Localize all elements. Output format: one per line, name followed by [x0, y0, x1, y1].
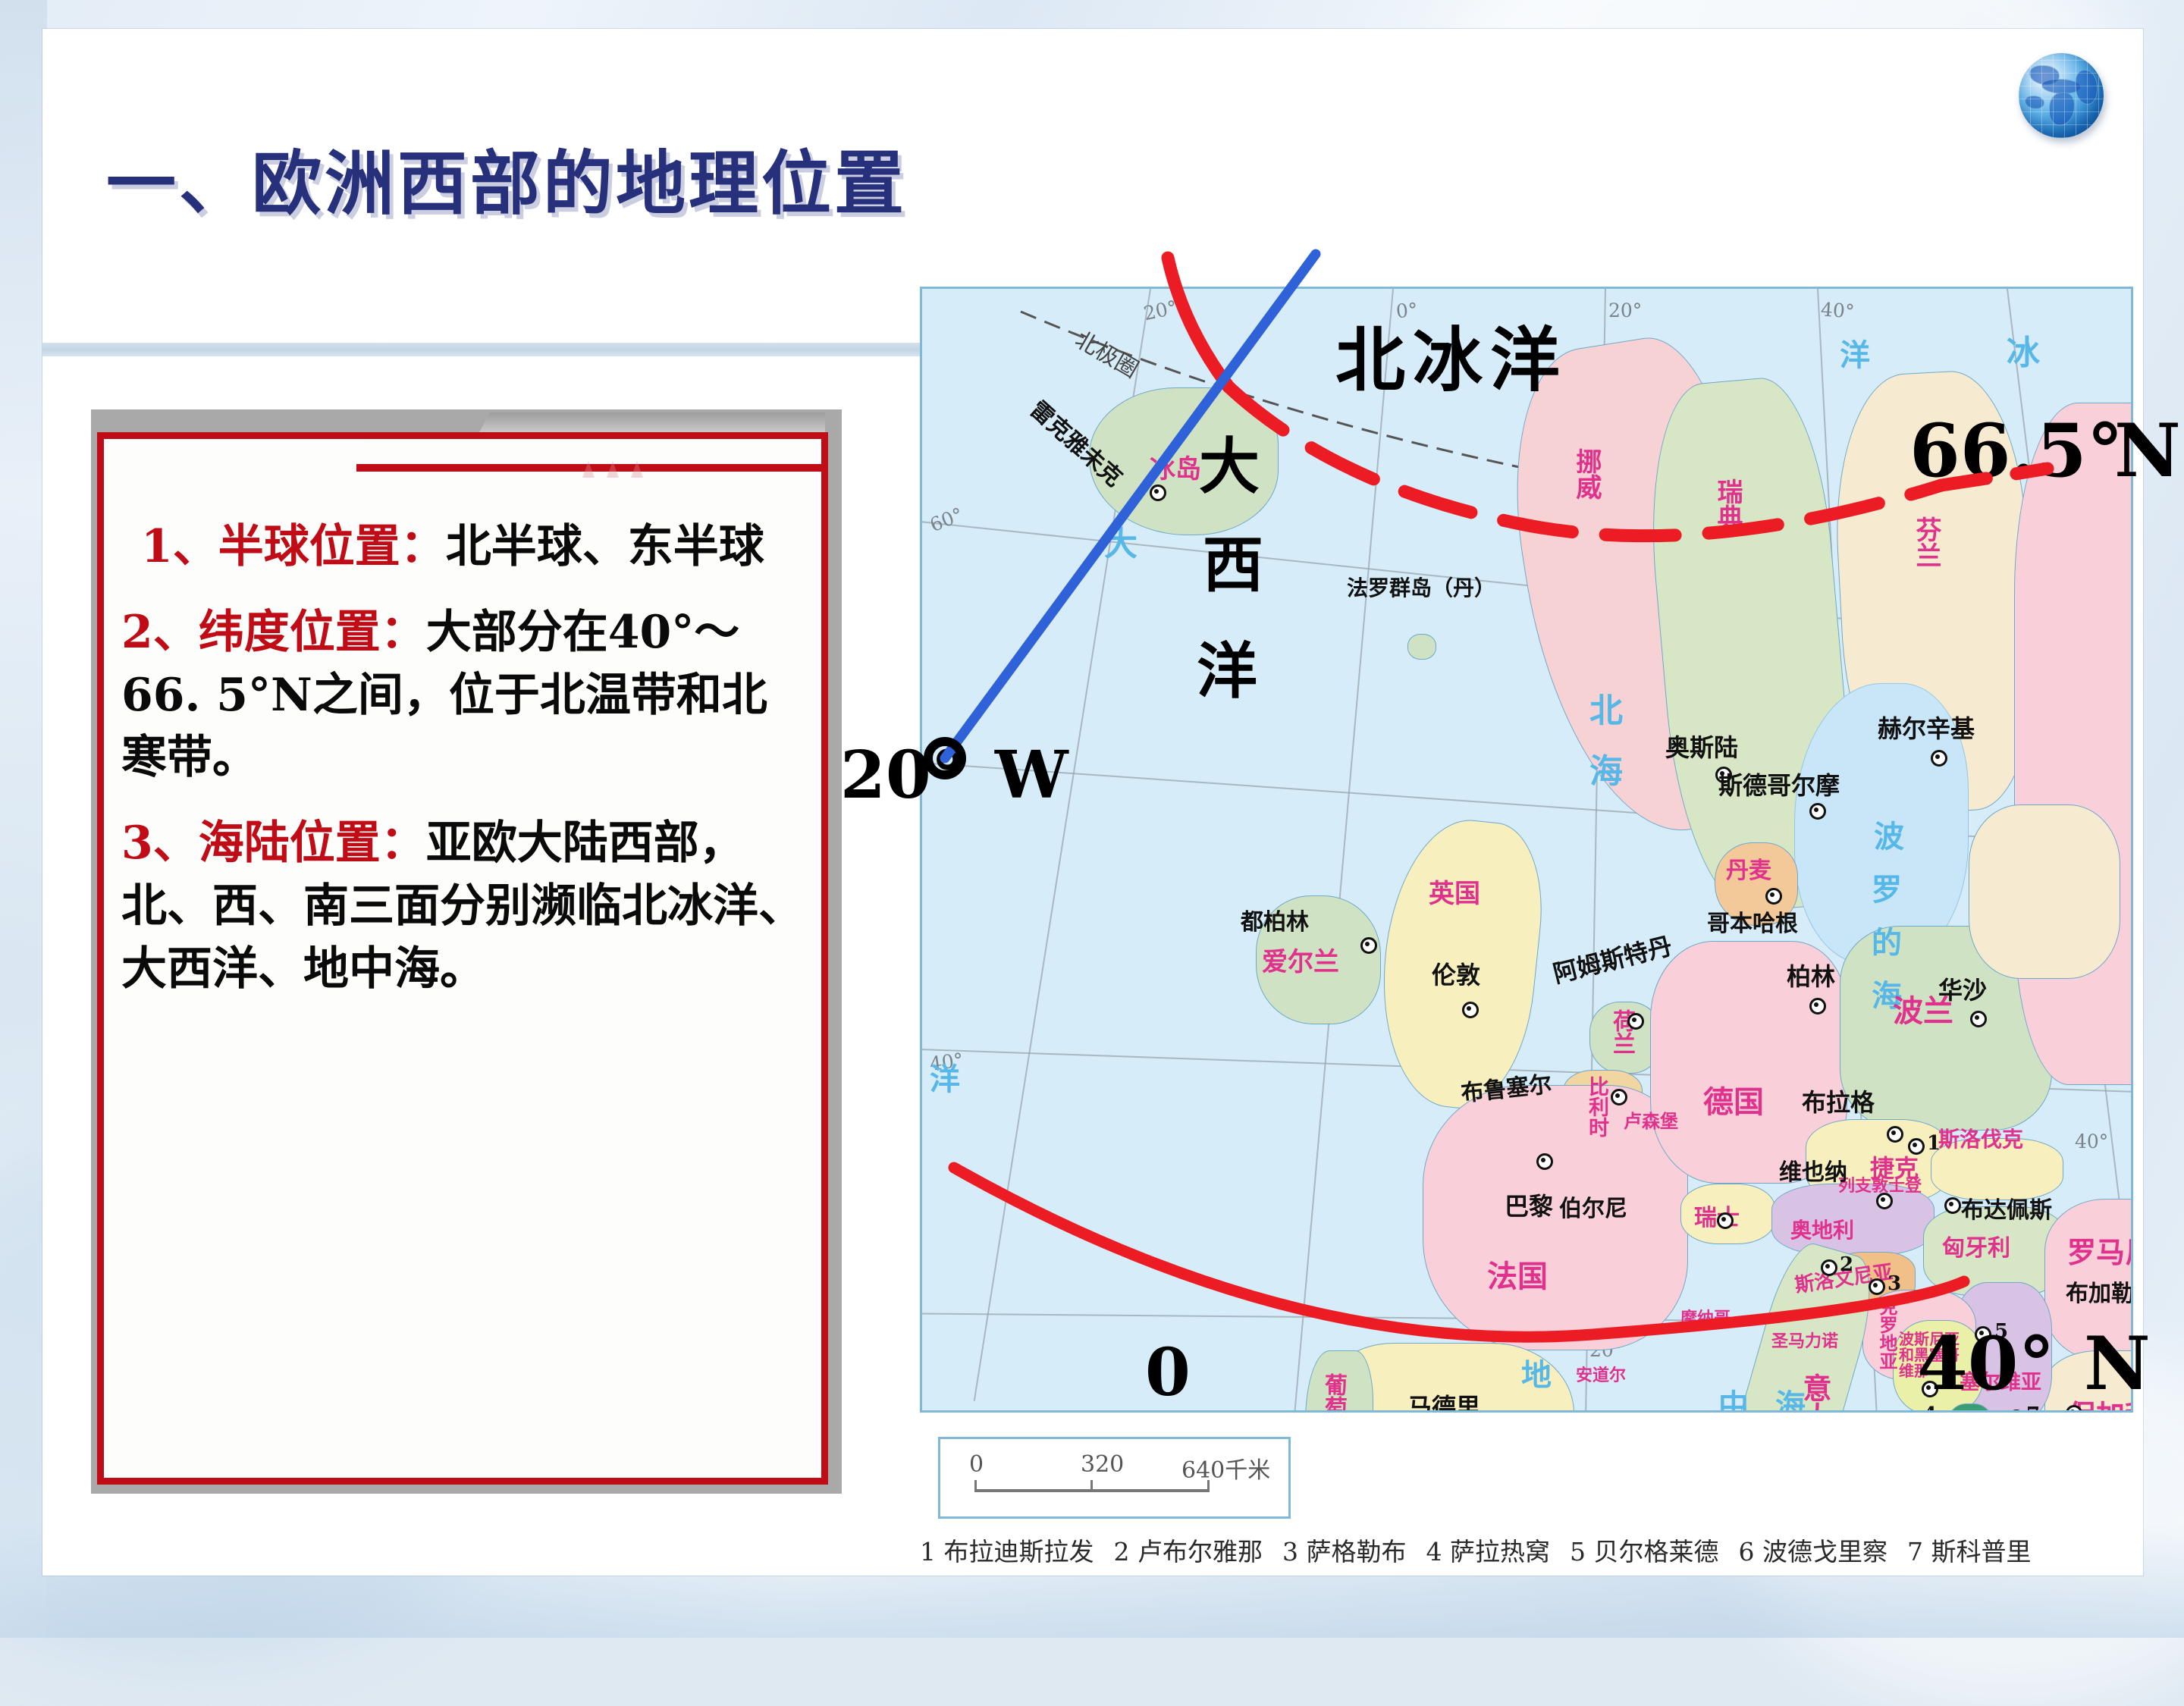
city-dot-warsaw [1970, 1011, 1987, 1027]
numbered-marker-dot-1 [1908, 1138, 1925, 1155]
sea-label-north-sea-hai: 海 [1589, 744, 1623, 792]
city-dot-london [1462, 1002, 1479, 1018]
sea-label-arctic-bing: 冰 [2007, 325, 2040, 374]
country-label-liechtenstein: 列支敦士登 [1838, 1172, 1922, 1196]
country-label-norway: 挪威 [1568, 448, 1605, 500]
country-label-andorra: 安道尔 [1576, 1362, 1626, 1386]
country-label-iceland: 冰岛 [1150, 448, 1201, 485]
scale-tick-mid [1090, 1480, 1093, 1491]
numbered-marker-2: 2 [1840, 1253, 1853, 1276]
scale-tick-0 [974, 1480, 977, 1491]
country-label-romania: 罗马尼亚 [2067, 1229, 2133, 1271]
city-label-madrid: 马德里 [1407, 1388, 1480, 1413]
item-1-body: 北半球、东半球 [446, 520, 764, 573]
graticule-label-lon-40e: 40° [1820, 298, 1855, 322]
city-label-prague: 布拉格 [1802, 1083, 1875, 1118]
legend-item-1: 1 布拉迪斯拉发 [920, 1537, 1094, 1566]
sea-label-medit-zhong: 中 [1718, 1381, 1749, 1413]
city-label-copenhagen: 哥本哈根 [1707, 905, 1798, 938]
item-1-number: 1、 [141, 520, 218, 573]
landmass-baltic-states [1969, 804, 2120, 979]
item-3-number: 3、 [121, 817, 199, 870]
city-dot-budapest [1944, 1197, 1961, 1214]
sea-label-baltic-bo: 波 [1874, 812, 1904, 856]
numbered-marker-dot-3 [1869, 1278, 1885, 1295]
item-2-number: 2、 [121, 606, 199, 659]
item-1-label: 半球位置： [218, 520, 446, 573]
city-label-budapest: 布达佩斯 [1961, 1191, 2052, 1225]
map-scale-bar: 0 320 640千米 [938, 1437, 1291, 1519]
list-item: 3、海陆位置：亚欧大陆西部，北、西、南三面分别濒临北冰洋、大西洋、地中海。 [121, 812, 804, 1000]
country-label-belgium: 比利时 [1582, 1076, 1611, 1137]
city-dot-copenhagen [1765, 888, 1782, 905]
map-label-lon-20-dir: W [995, 737, 1068, 814]
sea-label-north-sea-bei: 北 [1589, 683, 1623, 732]
sea-label-atlantic-da: 大 [1104, 516, 1137, 565]
country-label-germany: 德国 [1703, 1077, 1764, 1121]
sea-label-medit-di: 地 [1521, 1350, 1552, 1394]
legend-item-2: 2 卢布尔雅那 [1114, 1537, 1263, 1566]
country-label-portugal: 葡萄牙 [1316, 1373, 1350, 1413]
country-label-slovakia: 斯洛伐克 [1938, 1123, 2023, 1153]
landmass-faroe-islands [1407, 634, 1436, 660]
country-label-denmark: 丹麦 [1726, 851, 1771, 885]
scale-tick-end [1207, 1480, 1210, 1491]
city-label-vienna: 维也纳 [1779, 1153, 1847, 1187]
scale-value-640: 640千米 [1181, 1451, 1270, 1485]
city-label-paris: 巴黎 [1505, 1187, 1553, 1222]
item-2-label: 纬度位置： [199, 606, 426, 659]
scale-value-0: 0 [969, 1451, 984, 1478]
country-label-switzerland: 瑞士 [1694, 1199, 1740, 1232]
list-item: 1、半球位置：北半球、东半球 [121, 516, 804, 579]
country-label-faroe-islands: 法罗群岛（丹） [1347, 577, 1495, 599]
map-label-lat-66-5: 66.5° [1909, 408, 2123, 494]
map-label-lat-40: 40° [1917, 1321, 2055, 1407]
graticule-label-lat-40-right: 40° [2075, 1131, 2108, 1152]
map-label-lat-40-dir: N [2084, 1321, 2151, 1407]
city-dot-paris [1536, 1153, 1553, 1170]
city-dot-amsterdam [1627, 1013, 1644, 1030]
city-label-oslo: 奥斯陆 [1665, 729, 1738, 764]
page-title: 一、欧洲西部的地理位置 [106, 127, 907, 228]
sea-label-baltic-luo: 罗 [1872, 865, 1902, 909]
city-dot-bern [1717, 1212, 1734, 1229]
country-label-sweden: 瑞典 [1709, 478, 1746, 530]
city-dot-reykjavik [1150, 485, 1166, 501]
city-dot-berlin [1809, 998, 1826, 1015]
country-label-croatia: 克罗地亚 [1874, 1297, 1900, 1370]
map-label-atlantic-1: 大 [1199, 418, 1260, 506]
country-label-ireland: 爱尔兰 [1262, 941, 1339, 978]
legend-item-3: 3 萨格勒布 [1282, 1537, 1407, 1566]
card-arrow-marks [576, 458, 667, 478]
city-dot-vienna [1876, 1193, 1893, 1209]
scale-value-320: 320 [1081, 1451, 1124, 1478]
city-dot-helsinki [1931, 750, 1947, 767]
title-divider [42, 343, 930, 358]
city-label-bern: 伯尔尼 [1559, 1190, 1627, 1223]
city-dot-dublin [1360, 937, 1377, 954]
city-label-stockholm: 斯德哥尔摩 [1718, 767, 1840, 801]
city-label-dublin: 都柏林 [1241, 903, 1309, 936]
city-label-helsinki: 赫尔辛基 [1878, 710, 1975, 745]
map-label-lon-20: 20° [840, 737, 964, 814]
graticule-label-lon-20e: 20° [1608, 299, 1642, 321]
country-label-hungary: 匈牙利 [1942, 1229, 2010, 1262]
legend-item-7: 7 斯科普里 [1907, 1537, 2032, 1566]
map-label-atlantic-2: 西 [1203, 516, 1263, 604]
map-label-lon-0: 0 [1145, 1334, 1191, 1411]
globe-icon [2011, 47, 2114, 150]
city-label-london: 伦敦 [1432, 956, 1480, 991]
sea-label-atlantic-yang: 洋 [930, 1055, 960, 1099]
country-label-san-marino: 圣马力诺 [1771, 1328, 1838, 1352]
city-label-warsaw: 华沙 [1938, 971, 1987, 1006]
country-label-luxembourg: 卢森堡 [1624, 1106, 1678, 1133]
landmass-eastern-europe [2014, 403, 2133, 1085]
sea-label-arctic-bei: 洋 [1840, 331, 1870, 375]
map-legend-footnote: 1 布拉迪斯拉发2 卢布尔雅那3 萨格勒布4 萨拉热窝5 贝尔格莱德6 波德戈里… [920, 1532, 2164, 1568]
legend-item-4: 4 萨拉热窝 [1426, 1537, 1551, 1566]
sea-label-baltic-de: 的 [1872, 918, 1902, 962]
item-3-label: 海陆位置： [199, 817, 426, 870]
country-label-austria: 奥地利 [1790, 1214, 1854, 1244]
numbered-marker-3: 3 [1887, 1272, 1901, 1295]
map-label-atlantic-3: 洋 [1197, 623, 1257, 710]
legend-item-6: 6 波德戈里察 [1739, 1537, 1888, 1566]
text-card-notch-fill [104, 439, 370, 483]
legend-item-5: 5 贝尔格莱德 [1570, 1537, 1719, 1566]
city-dot-prague [1887, 1126, 1903, 1143]
text-card-body: 1、半球位置：北半球、东半球 2、纬度位置：大部分在40°～66. 5°N之间，… [121, 516, 804, 1024]
city-label-berlin: 柏林 [1787, 958, 1835, 993]
country-label-monaco: 摩纳哥 [1680, 1305, 1731, 1329]
map-label-lat-66-5-dir: N [2114, 408, 2181, 494]
country-label-uk: 英国 [1429, 873, 1480, 910]
country-label-france: 法国 [1487, 1252, 1548, 1296]
city-dot-brussels [1611, 1089, 1627, 1105]
city-dot-stockholm [1809, 803, 1826, 820]
list-item: 2、纬度位置：大部分在40°～66. 5°N之间，位于北温带和北寒带。 [121, 601, 804, 789]
map-label-arctic-ocean: 北冰洋 [1335, 304, 1567, 405]
country-label-finland: 芬兰 [1908, 516, 1945, 568]
numbered-marker-1: 1 [1927, 1132, 1941, 1155]
numbered-marker-dot-2 [1821, 1259, 1837, 1276]
city-label-bucharest: 布加勒斯特 [2066, 1275, 2133, 1308]
country-label-italy: 意大利 [1794, 1373, 1836, 1413]
